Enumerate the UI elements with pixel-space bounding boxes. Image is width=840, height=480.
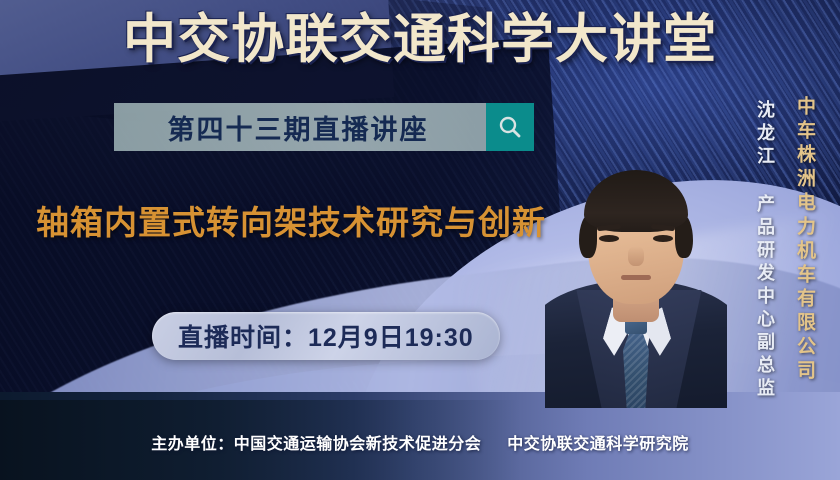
portrait-eye-left <box>599 235 619 242</box>
footer: 主办单位：中国交通运输协会新技术促进分会中交协联交通科学研究院 <box>0 430 840 454</box>
portrait-tie <box>623 330 649 408</box>
subtitle-bar: 第四十三期直播讲座 <box>114 103 534 151</box>
live-lecture-poster: 中交协联交通科学大讲堂 第四十三期直播讲座 轴箱内置式转向架技术研究与创新 直播… <box>0 0 840 480</box>
speaker-name-role: 沈龙江 产品研发中心副总监 <box>752 100 778 401</box>
portrait-eye-right <box>653 235 673 242</box>
search-button[interactable] <box>486 103 534 151</box>
lecture-topic: 轴箱内置式转向架技术研究与创新 <box>36 196 546 244</box>
live-time-label: 直播时间：12月9日19:30 <box>178 318 474 354</box>
speaker-company: 中车株洲电力机车有限公司 <box>791 96 818 384</box>
portrait-hair <box>584 170 688 232</box>
footer-co-organizer: 中交协联交通科学研究院 <box>507 430 689 454</box>
title-container: 中交协联交通科学大讲堂 <box>0 12 840 68</box>
footer-organizer: 主办单位：中国交通运输协会新技术促进分会 <box>151 430 481 454</box>
search-icon <box>497 114 523 140</box>
subtitle-label: 第四十三期直播讲座 <box>114 108 486 147</box>
portrait-mouth <box>621 275 651 280</box>
live-time-badge: 直播时间：12月9日19:30 <box>152 312 500 360</box>
speaker-portrait <box>545 108 727 408</box>
page-title: 中交协联交通科学大讲堂 <box>123 12 717 68</box>
portrait-nose <box>628 246 644 266</box>
